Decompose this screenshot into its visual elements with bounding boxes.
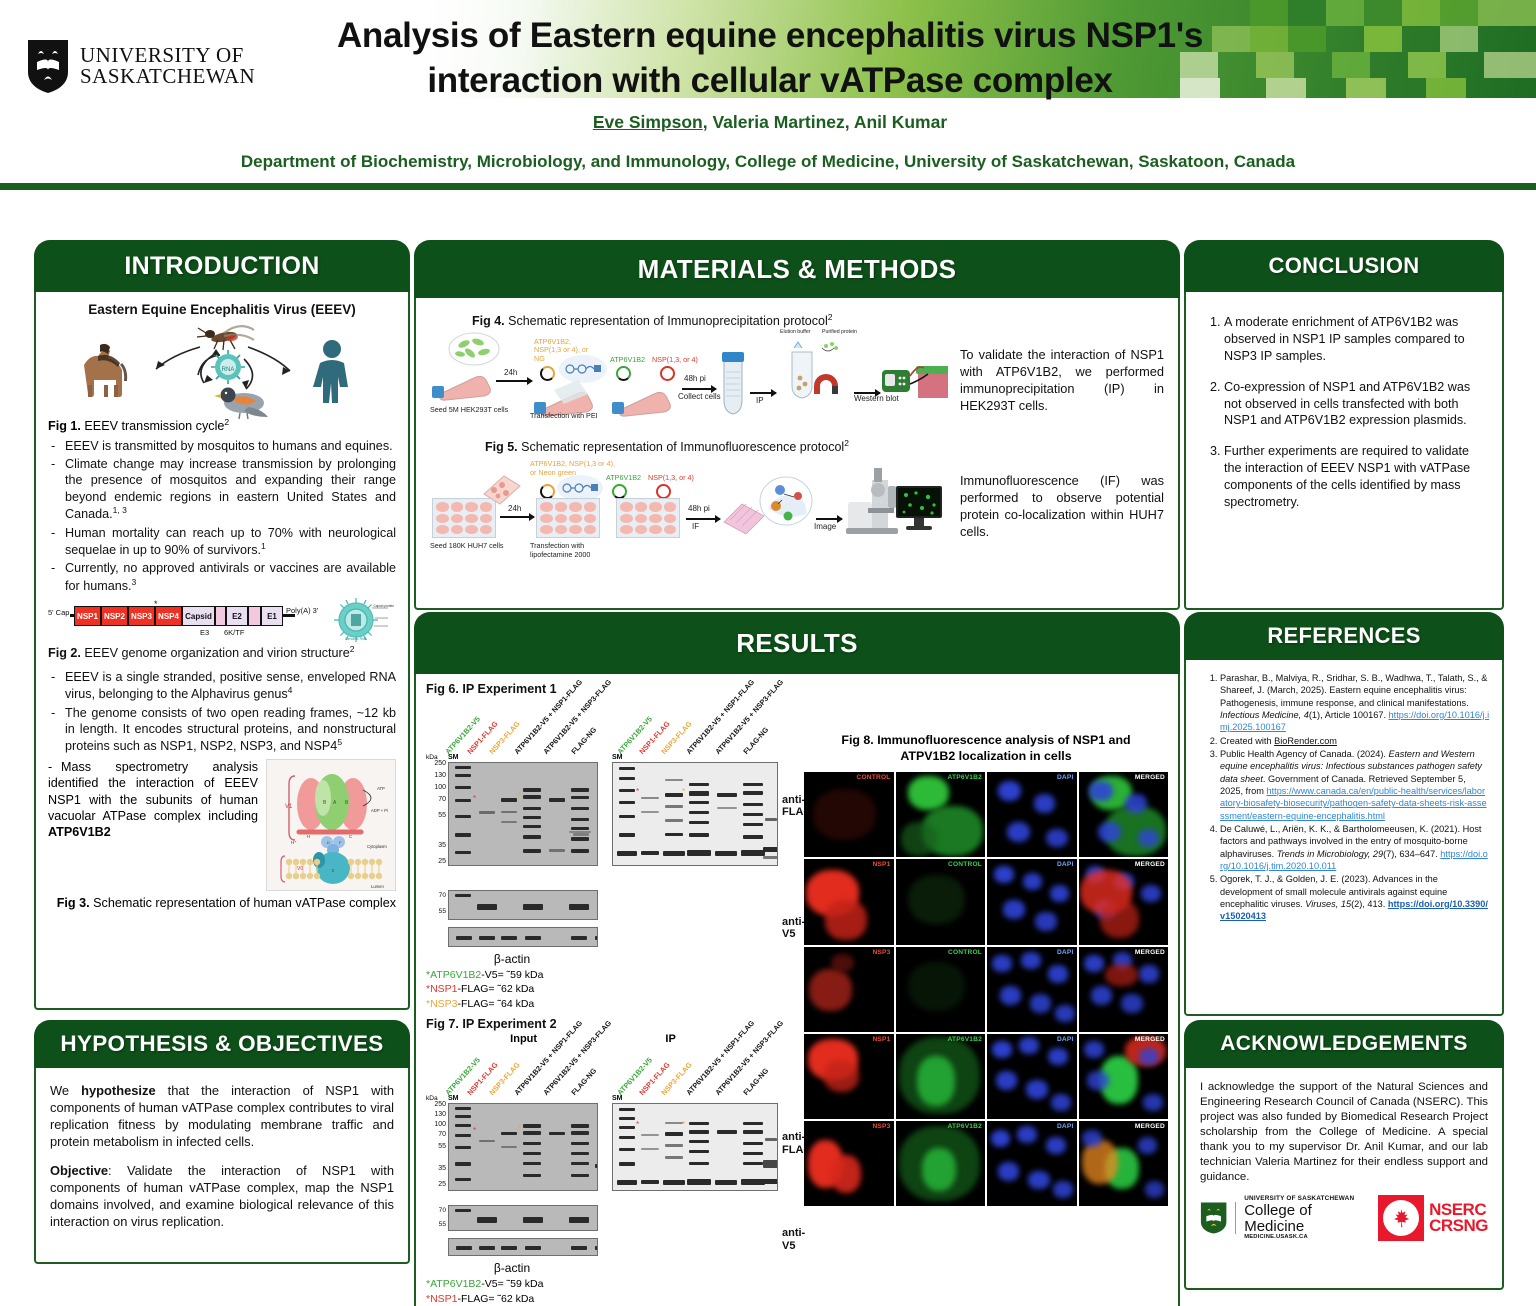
kda-tick: 100 — [426, 784, 446, 791]
genome-seg-e2: E2 — [226, 606, 248, 626]
acknowledgements-body: I acknowledge the support of the Natural… — [1184, 1068, 1504, 1290]
fig2-genome-map: 5' Cap NSP1 NSP2 NSP3 NSP4 Capsid E2 E1 — [48, 598, 396, 642]
panel-conclusion: CONCLUSION A moderate enrichment of ATP6… — [1184, 240, 1504, 610]
genome-seg-nsp4: NSP4 — [155, 606, 182, 626]
svg-text:H⁺: H⁺ — [291, 840, 297, 845]
mass-spec-paragraph: Mass spectrometry analysis identified th… — [48, 760, 258, 823]
if-tag: DAPI — [1057, 861, 1074, 868]
cell-dish-icon — [448, 332, 500, 366]
kda-tick-70b: 70 — [426, 1207, 446, 1214]
reference-italic: Trends in Microbiology, 29 — [1277, 849, 1383, 859]
nserc-wordmark: NSERC CRSNG — [1429, 1202, 1488, 1234]
fig7-bactin-gel — [448, 1238, 598, 1256]
hypothesis-body: We hypothesize that the interaction of N… — [34, 1068, 410, 1264]
fig5-caption-text: Schematic representation of Immunofluore… — [518, 440, 845, 454]
list-item: Created with BioRender.com — [1220, 735, 1490, 747]
bullet-text: The genome consists of two open reading … — [65, 706, 396, 754]
genome-label-e3: E3 — [200, 628, 209, 637]
kda-tick: 130 — [426, 772, 446, 779]
fig7-ip-antiflag-gel — [612, 1103, 778, 1191]
legend-value: -FLAG= ˜62 kDa — [458, 1293, 535, 1305]
sm-label-2: SM — [448, 1095, 459, 1102]
fig6-ip-antiflag-gel — [612, 762, 778, 866]
fig7-blot-group: ATP6V1B2-V5 NSP1-FLAG NSP3-FLAG ATP6V1B2… — [426, 1047, 798, 1275]
kda-tick: 35 — [426, 1165, 446, 1172]
svg-text:ADP + Pi: ADP + Pi — [371, 808, 388, 813]
nsp3-star-marker-f7: * — [518, 1125, 521, 1133]
fig4-time-2: 48h pi — [684, 374, 706, 383]
legend-value: -FLAG= ˜62 kDa — [458, 983, 535, 995]
fig7-antiv5-row: 70 55 — [426, 1205, 798, 1235]
bullet-text: Human mortality can reach up to 70% with… — [65, 526, 396, 558]
kda-tick-55b: 55 — [426, 1221, 446, 1228]
fig5-plasmid-green-icon — [612, 484, 627, 499]
if-cell: NSP1 — [804, 859, 894, 944]
if-cell: DAPI — [987, 947, 1077, 1032]
bullet-sup: 1 — [261, 541, 266, 551]
lane-label: FLAG-NG — [741, 725, 770, 756]
kda-tick: 55 — [426, 812, 446, 819]
microscope-icon — [844, 466, 904, 536]
fig2-caption: Fig 2. EEEV genome organization and viri… — [48, 644, 396, 661]
mass-spec-block: -Mass spectrometry analysis identified t… — [48, 759, 396, 891]
cell-zoom-icon — [758, 474, 814, 528]
fig8-title: Fig 8. Immunofluorescence analysis of NS… — [804, 732, 1168, 764]
genome-cap-left: 5' Cap — [48, 608, 69, 617]
college-logo-text: UNIVERSITY OF SASKATCHEWAN College of Me… — [1244, 1196, 1364, 1240]
introduction-bullets: EEEV is transmitted by mosquitos to huma… — [48, 438, 396, 595]
sm-label: SM — [448, 754, 459, 761]
university-logo-text: UNIVERSITY OF SASKATCHEWAN — [80, 45, 255, 87]
reference-text2: (1), Article 100167. — [1309, 710, 1389, 720]
fig3-caption-text: Schematic representation of human vATPas… — [90, 896, 396, 910]
legend-value: -FLAG= ˜64 kDa — [458, 998, 535, 1010]
fig6-input-antiflag-gel — [448, 762, 598, 866]
fig5-arrow-1 — [500, 516, 534, 518]
usask-shield-icon — [26, 38, 70, 94]
list-item: Climate change may increase transmission… — [48, 456, 396, 523]
if-cell: NSP3 — [804, 947, 894, 1032]
genome-segments: NSP1 NSP2 NSP3 NSP4 Capsid E2 E1 — [74, 606, 283, 626]
fig6-input-antiv5-gel — [448, 890, 598, 920]
fig3-vatpase-diagram: V1 B A B H C — [266, 759, 396, 891]
svg-text:Cytoplasm: Cytoplasm — [367, 844, 387, 849]
list-item: Public Health Agency of Canada. (2024). … — [1220, 748, 1490, 822]
kda-tick-55: 55 — [426, 908, 446, 915]
legend-line: *NSP3-FLAG= ˜64 kDa — [426, 997, 798, 1011]
if-cell: DAPI — [987, 772, 1077, 857]
svg-text:D: D — [327, 840, 330, 845]
materials-heading: MATERIALS & METHODS — [414, 240, 1180, 298]
objective-keyword: Objective — [50, 1163, 108, 1178]
blot-header-ip: IP — [665, 1033, 675, 1045]
list-item: Further experiments are required to vali… — [1224, 443, 1488, 511]
fig5-caption: Fig 5. Schematic representation of Immun… — [485, 438, 1164, 454]
college-line-2: College of Medicine — [1244, 1203, 1364, 1235]
title-block: Analysis of Eastern equine encephalitis … — [270, 14, 1270, 133]
title-line-1: Analysis of Eastern equine encephalitis … — [270, 14, 1270, 59]
conclusion-body: A moderate enrichment of ATP6V1B2 was ob… — [1184, 292, 1504, 610]
if-cell: MERGED — [1079, 1034, 1169, 1119]
fig6-bactin-row — [426, 927, 798, 951]
results-heading: RESULTS — [414, 612, 1180, 674]
kda-tick: 130 — [426, 1111, 446, 1118]
fig5-step1-label: Seed 180K HUH7 cells — [430, 542, 504, 550]
logo-line-2: SASKATCHEWAN — [80, 64, 255, 88]
fig2-caption-sup: 2 — [350, 644, 355, 654]
fig5-plasmid-orange-icon — [540, 484, 555, 499]
fig6-antiflag-row: kDa 250 130 100 70 55 35 25 SM — [426, 756, 798, 888]
fig5-if-label: IF — [692, 522, 699, 531]
if-tag: MERGED — [1135, 1123, 1165, 1130]
fig6-blot-group: ATP6V1B2-V5 NSP1-FLAG NSP3-FLAG ATP6V1B2… — [426, 700, 798, 966]
svg-text:V1: V1 — [285, 804, 293, 810]
affiliation: Department of Biochemistry, Microbiology… — [0, 152, 1536, 172]
fig6-legend: *ATP6V1B2-V5= ˜59 kDa *NSP1-FLAG= ˜62 kD… — [426, 968, 798, 1011]
lane-label: FLAG-NG — [569, 725, 598, 756]
fig7-legend: *ATP6V1B2-V5= ˜59 kDa *NSP1-FLAG= ˜62 kD… — [426, 1277, 798, 1306]
fig5-arrow-2 — [686, 518, 720, 520]
fig4-arrow-1 — [496, 380, 532, 382]
list-item: A moderate enrichment of ATP6V1B2 was ob… — [1224, 314, 1488, 365]
fig4-description: To validate the interaction of NSP1 with… — [960, 346, 1164, 415]
fig2-caption-text: EEEV genome organization and virion stru… — [81, 647, 350, 661]
if-tag: MERGED — [1135, 949, 1165, 956]
fig5-plasmid-red-label: NSP(1,3, or 4) — [648, 474, 694, 482]
fig4-arrow-3 — [750, 392, 776, 394]
if-tag: CONTROL — [948, 861, 982, 868]
if-cell: ATP6V1B2 — [896, 1034, 986, 1119]
nserc-line-2: CRSNG — [1429, 1218, 1488, 1234]
list-item: Human mortality can reach up to 70% with… — [48, 525, 396, 559]
panel-hypothesis-objectives: HYPOTHESIS & OBJECTIVES We hypothesize t… — [34, 1020, 410, 1264]
magnetic-separation-icon — [778, 338, 854, 410]
list-item: Ogorek, T. J., & Golden, J. E. (2023). A… — [1220, 873, 1490, 922]
list-item: Currently, no approved antivirals or vac… — [48, 560, 396, 594]
legend-line: *ATP6V1B2-V5= ˜59 kDa — [426, 1277, 798, 1291]
nsp3-star-marker-f7-ip: * — [682, 1121, 685, 1129]
author-list: Eve Simpson, Valeria Martinez, Anil Kuma… — [270, 112, 1270, 133]
reference-italic: Viruses, 15 — [1305, 899, 1351, 909]
results-blots-column: Fig 6. IP Experiment 1 ATP6V1B2-V5 NSP1-… — [426, 682, 798, 1306]
list-item: EEEV is transmitted by mosquitos to huma… — [48, 438, 396, 454]
fig5-description: Immunofluorescence (IF) was performed to… — [960, 472, 1164, 541]
if-tag: ATP6V1B2 — [948, 1123, 982, 1130]
if-cell: NSP3 — [804, 1121, 894, 1206]
if-tag: NSP1 — [872, 1036, 890, 1043]
introduction-subheading: Eastern Equine Encephalitis Virus (EEEV) — [48, 302, 396, 317]
legend-name: *ATP6V1B2 — [426, 1278, 481, 1290]
blot-header-input: Input — [510, 1033, 537, 1045]
if-cell: CONTROL — [896, 947, 986, 1032]
if-tag: CONTROL — [857, 774, 891, 781]
introduction-heading: INTRODUCTION — [34, 240, 410, 292]
fig3-caption-label: Fig 3. — [57, 896, 90, 910]
references-body: Parashar, B., Malviya, R., Sridhar, S. B… — [1184, 660, 1504, 1016]
fig5-image-label: Image — [814, 522, 836, 531]
legend-line: *NSP1-FLAG= ˜62 kDa — [426, 982, 798, 996]
fig4-time-1: 24h — [504, 368, 517, 377]
fig4-step2-label: Transfection with PEI — [530, 412, 598, 420]
nsp1-star-marker: * — [473, 795, 476, 803]
list-item: The genome consists of two open reading … — [48, 705, 396, 755]
if-tag: MERGED — [1135, 774, 1165, 781]
sm-label-ip: SM — [612, 754, 623, 761]
reference-text: Public Health Agency of Canada. (2024). — [1220, 749, 1389, 759]
fig8-title-line2: ATPV1B2 localization in cells — [804, 748, 1168, 764]
kda-tick: 70 — [426, 796, 446, 803]
nsp1-star-marker-ip: * — [636, 788, 639, 796]
if-tag: NSP3 — [872, 1123, 890, 1130]
genome-seg-e1: E1 — [261, 606, 283, 626]
objective-paragraph: Objective: Validate the interaction of N… — [50, 1162, 394, 1230]
logo-divider — [1235, 1202, 1236, 1234]
kda-tick: 70 — [426, 1131, 446, 1138]
college-of-medicine-logo: UNIVERSITY OF SASKATCHEWAN College of Me… — [1200, 1196, 1364, 1240]
fig4-plasmid-red-label: NSP(1,3, or 4) — [652, 356, 698, 364]
if-cell: DAPI — [987, 1121, 1077, 1206]
usask-shield-icon — [1200, 1200, 1227, 1236]
genome-seg-capsid: Capsid — [182, 606, 215, 626]
hypothesis-paragraph: We hypothesize that the interaction of N… — [50, 1082, 394, 1150]
fig5-caption-label: Fig 5. — [485, 440, 518, 454]
falcon-tube-icon — [720, 350, 746, 416]
fig5-caption-sup: 2 — [844, 438, 849, 448]
if-cell: CONTROL — [896, 859, 986, 944]
poster-body: INTRODUCTION Eastern Equine Encephalitis… — [0, 198, 1536, 1306]
fig5-row: Seed 180K HUH7 cells 24h ATP6V1B2, NSP(1… — [430, 456, 1164, 556]
fig4-step1-label: Seed 5M HEK293T cells — [430, 406, 508, 414]
fig6-bactin-gel — [448, 927, 598, 947]
fig7-input-antiflag-gel — [448, 1103, 598, 1191]
panel-materials-methods: MATERIALS & METHODS Fig 4. Schematic rep… — [414, 240, 1180, 610]
bullet-text: EEEV is transmitted by mosquitos to huma… — [65, 439, 393, 453]
reference-text2: (7), 634–647. — [1383, 849, 1440, 859]
mass-spec-text: -Mass spectrometry analysis identified t… — [48, 759, 258, 891]
panel-introduction: INTRODUCTION Eastern Equine Encephalitis… — [34, 240, 410, 1010]
if-tag: MERGED — [1135, 861, 1165, 868]
svg-text:H: H — [307, 834, 310, 839]
genome-seg-nsp2: NSP2 — [101, 606, 128, 626]
fig6-antiv5-row: 70 55 — [426, 890, 798, 924]
fig5-arrow-3 — [816, 518, 842, 520]
bullet-text: Currently, no approved antivirals or vac… — [65, 561, 396, 593]
panel-references: REFERENCES Parashar, B., Malviya, R., Sr… — [1184, 612, 1504, 1016]
nsp1-star-marker-f7-ip: * — [636, 1121, 639, 1129]
svg-text:RNA: RNA — [222, 367, 235, 373]
if-tag: MERGED — [1135, 1036, 1165, 1043]
fig8-title-line1: Fig 8. Immunofluorescence analysis of NS… — [804, 732, 1168, 748]
bullet-sup: 1, 3 — [113, 505, 127, 515]
human-icon — [313, 340, 348, 403]
kda-tick: 250 — [426, 760, 446, 767]
hypothesis-keyword: hypothesize — [81, 1083, 156, 1098]
svg-text:V0: V0 — [297, 866, 303, 872]
reference-text: Parashar, B., Malviya, R., Sridhar, S. B… — [1220, 673, 1487, 708]
nsp3-star-marker: * — [518, 792, 521, 800]
fig4-caption-sup: 2 — [828, 312, 833, 322]
nserc-logo: NSERC CRSNG — [1378, 1195, 1488, 1241]
lane-label: FLAG-NG — [569, 1067, 598, 1098]
if-tag: ATP6V1B2 — [948, 774, 982, 781]
bullet-sup: 4 — [288, 685, 293, 695]
list-item: EEEV is a single stranded, positive sens… — [48, 669, 396, 703]
monitor-icon — [896, 486, 946, 532]
biorender-link[interactable]: BioRender.com — [1274, 736, 1337, 746]
fig5-plate-3 — [616, 498, 680, 538]
reference-text: Created with — [1220, 736, 1274, 746]
fig5-block: Fig 5. Schematic representation of Immun… — [430, 438, 1164, 556]
authors-rest: , Valeria Martinez, Anil Kumar — [703, 112, 947, 132]
bullet-text: EEEV is a single stranded, positive sens… — [65, 670, 396, 702]
fig5-plasmid-red-icon — [656, 484, 671, 499]
kda-tick: 25 — [426, 1181, 446, 1188]
if-tag: CONTROL — [948, 949, 982, 956]
genome-seg-e3 — [215, 606, 226, 626]
western-blot-apparatus-icon — [882, 354, 948, 406]
if-cell: MERGED — [1079, 947, 1169, 1032]
poster-title: Analysis of Eastern equine encephalitis … — [270, 14, 1270, 104]
genome-seg-6ktf — [248, 606, 261, 626]
bird-icon — [214, 388, 268, 420]
if-cell: ATP6V1B2 — [896, 772, 986, 857]
if-cell: MERGED — [1079, 772, 1169, 857]
svg-text:Capsid protein: Capsid protein — [373, 604, 394, 608]
cell-coverslip-icon — [480, 472, 522, 506]
if-tag: DAPI — [1057, 949, 1074, 956]
title-line-2: interaction with cellular vATPase comple… — [270, 59, 1270, 104]
university-logo: UNIVERSITY OF SASKATCHEWAN — [26, 38, 255, 94]
fig4-caption-label: Fig 4. — [472, 314, 505, 328]
results-if-column: Fig 8. Immunofluorescence analysis of NS… — [804, 682, 1168, 1306]
fig8-if-image-grid: CONTROL ATP6V1B2 DAPI — [804, 772, 1168, 1206]
poster-header: UNIVERSITY OF SASKATCHEWAN Analysis of E… — [0, 0, 1536, 190]
fig4-elution-label: Elution buffer — [780, 330, 810, 336]
fig6-lane-labels: ATP6V1B2-V5 NSP1-FLAG NSP3-FLAG ATP6V1B2… — [426, 700, 798, 756]
if-cell: DAPI — [987, 859, 1077, 944]
if-tag: DAPI — [1057, 1123, 1074, 1130]
fig5-step2-label: Transfection with lipofectamine 2000 — [530, 542, 610, 559]
introduction-bullets-2: EEEV is a single stranded, positive sens… — [48, 669, 396, 755]
mosquito-icon — [197, 326, 254, 350]
poster-root: UNIVERSITY OF SASKATCHEWAN Analysis of E… — [0, 0, 1536, 1306]
bullet-sup: 3 — [132, 577, 137, 587]
materials-body: Fig 4. Schematic representation of Immun… — [414, 298, 1180, 610]
header-bottom-rule — [0, 181, 1536, 190]
fig7-bactin-row — [426, 1238, 798, 1260]
list-item: Co-expression of NSP1 and ATP6V1B2 was n… — [1224, 379, 1488, 430]
fig4-row: Seed 5M HEK293T cells 24h ATP6V1B2, NSP(… — [430, 330, 1164, 430]
fig3-caption: Fig 3. Schematic representation of human… — [48, 895, 396, 911]
fig4-ip-label: IP — [756, 396, 764, 405]
legend-line: *NSP1-FLAG= ˜62 kDa — [426, 1292, 798, 1306]
kda-tick: 55 — [426, 1143, 446, 1150]
fig4-collect-label: Collect cells — [678, 392, 721, 401]
horse-icon — [84, 344, 127, 397]
fig5-time-1: 24h — [508, 504, 521, 513]
genome-label-6ktf: 6K/TF — [224, 628, 244, 637]
legend-value: -V5= ˜59 kDa — [481, 1278, 543, 1290]
references-list: Parashar, B., Malviya, R., Sridhar, S. B… — [1198, 672, 1490, 923]
kda-tick: 250 — [426, 1101, 446, 1108]
if-cell: ATP6V1B2 — [896, 1121, 986, 1206]
kda-tick: 35 — [426, 842, 446, 849]
nserc-maple-leaf-icon — [1378, 1195, 1424, 1241]
virion-structure-icon: Genomic RNA Capsid protein — [332, 596, 394, 644]
results-body: Fig 6. IP Experiment 1 ATP6V1B2-V5 NSP1-… — [414, 674, 1180, 1306]
fig5-plasmid-green-label: ATP6V1B2 — [606, 474, 641, 482]
if-tag: ATP6V1B2 — [948, 1036, 982, 1043]
genome-seg-nsp3: NSP3 — [128, 606, 155, 626]
introduction-body: Eastern Equine Encephalitis Virus (EEEV) — [34, 292, 410, 1010]
if-cell: MERGED — [1079, 859, 1169, 944]
sm-label-ip-2: SM — [612, 1095, 623, 1102]
if-tag: NSP1 — [872, 861, 890, 868]
acknowledgements-text: I acknowledge the support of the Natural… — [1200, 1080, 1488, 1185]
fig7-input-antiv5-gel — [448, 1205, 598, 1231]
genome-cap-right: Poly(A) 3' — [286, 606, 318, 615]
if-cell: NSP1 — [804, 1034, 894, 1119]
nsp1-star-marker-f7: * — [473, 1127, 476, 1135]
if-cell: CONTROL — [804, 772, 894, 857]
fig7-lane-labels: ATP6V1B2-V5 NSP1-FLAG NSP3-FLAG ATP6V1B2… — [426, 1047, 798, 1097]
mass-spec-highlight: ATP6V1B2 — [48, 825, 111, 839]
college-line-3: MEDICINE.USASK.CA — [1244, 1234, 1364, 1240]
fig2-caption-label: Fig 2. — [48, 647, 81, 661]
genome-seg-nsp1: NSP1 — [74, 606, 101, 626]
funder-logos: UNIVERSITY OF SASKATCHEWAN College of Me… — [1200, 1195, 1488, 1241]
svg-text:ATP: ATP — [377, 786, 385, 791]
if-tag: DAPI — [1057, 774, 1074, 781]
fig7-antiflag-row: kDa 250 130 100 70 55 35 25 SM — [426, 1097, 798, 1203]
fig4-ip-protocol-schematic: Seed 5M HEK293T cells 24h ATP6V1B2, NSP(… — [430, 330, 950, 430]
fig5-time-2: 48h pi — [688, 504, 710, 513]
fig7-bactin-caption: β-actin — [426, 1261, 598, 1275]
references-heading: REFERENCES — [1184, 612, 1504, 660]
fig1-transmission-cycle-illustration: RNA — [48, 319, 396, 423]
author-primary: Eve Simpson — [593, 112, 703, 132]
list-item: Parashar, B., Malviya, R., Sridhar, S. B… — [1220, 672, 1490, 734]
panel-results: RESULTS Fig 6. IP Experiment 1 ATP6V1B2-… — [414, 612, 1180, 1306]
hypothesis-heading: HYPOTHESIS & OBJECTIVES — [34, 1020, 410, 1068]
list-item: De Caluwé, L., Ariën, K. K., & Bartholom… — [1220, 823, 1490, 872]
legend-name: *NSP1 — [426, 1293, 458, 1305]
legend-line: *ATP6V1B2-V5= ˜59 kDa — [426, 968, 798, 982]
if-cell: MERGED — [1079, 1121, 1169, 1206]
legend-value: -V5= ˜59 kDa — [481, 969, 543, 981]
conclusion-list: A moderate enrichment of ATP6V1B2 was ob… — [1200, 314, 1488, 511]
kda-tick-70: 70 — [426, 892, 446, 899]
fig4-plasmid-green-label: ATP6V1B2 — [610, 356, 645, 364]
conclusion-heading: CONCLUSION — [1184, 240, 1504, 292]
lane-label: FLAG-NG — [741, 1067, 770, 1098]
if-tag: NSP3 — [872, 949, 890, 956]
acknowledgements-heading: ACKNOWLEDGEMENTS — [1184, 1020, 1504, 1068]
culture-flask-icon-3 — [612, 374, 680, 418]
virus-particle-icon: RNA — [211, 350, 245, 384]
if-tag: DAPI — [1057, 1036, 1074, 1043]
fig6-bactin-caption: β-actin — [426, 952, 598, 966]
reference-text2: (2), 413. — [1351, 899, 1388, 909]
hypothesis-pre: We — [50, 1083, 81, 1098]
fig4-arrow-2 — [682, 388, 716, 390]
reference-italic: Infectious Medicine, 4 — [1220, 710, 1309, 720]
panel-acknowledgements: ACKNOWLEDGEMENTS I acknowledge the suppo… — [1184, 1020, 1504, 1290]
fig4-caption: Fig 4. Schematic representation of Immun… — [472, 312, 1164, 328]
if-cell: DAPI — [987, 1034, 1077, 1119]
legend-name: *ATP6V1B2 — [426, 969, 481, 981]
legend-name: *NSP3 — [426, 998, 458, 1010]
